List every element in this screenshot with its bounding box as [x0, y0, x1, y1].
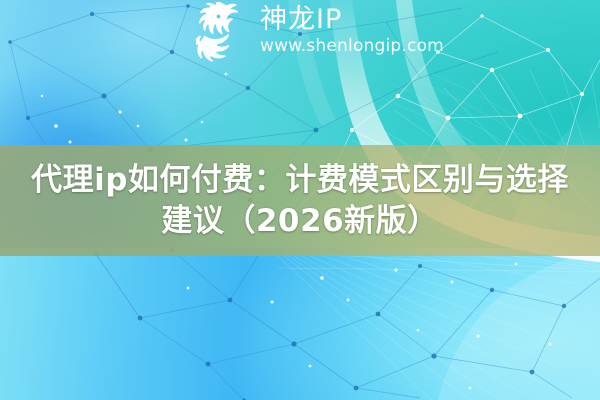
- brand-name: 神龙IP: [260, 5, 444, 35]
- article-cover-banner: 神龙IP www.shenlongip.com 代理ip如何付费：计费模式区别与…: [0, 0, 600, 400]
- dragon-logo-icon: [196, 2, 254, 64]
- page-title: 代理ip如何付费：计费模式区别与选择建议（2026新版）: [14, 160, 586, 242]
- network-mesh-lower: [0, 248, 600, 400]
- brand-website-url: www.shenlongip.com: [260, 35, 444, 57]
- brand-logo-text: 神龙IP www.shenlongip.com: [260, 2, 444, 57]
- brand-logo[interactable]: 神龙IP www.shenlongip.com: [196, 2, 444, 64]
- title-overlay-band: 代理ip如何付费：计费模式区别与选择建议（2026新版）: [0, 145, 600, 256]
